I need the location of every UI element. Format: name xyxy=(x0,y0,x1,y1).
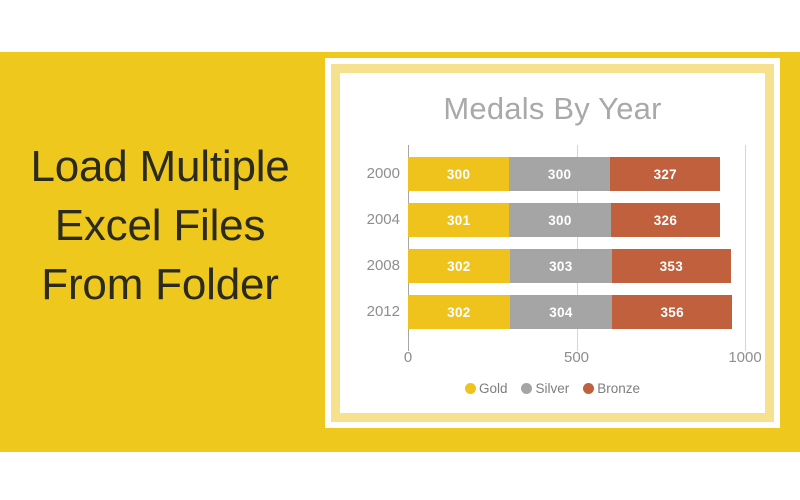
chart-bar-segment-bronze: 353 xyxy=(612,249,731,283)
legend-swatch-bronze-icon xyxy=(583,383,594,394)
chart-bar-segment-silver: 300 xyxy=(509,157,610,191)
chart-bar-segment-gold: 302 xyxy=(408,249,510,283)
chart-data-label: 302 xyxy=(447,259,470,274)
chart-data-label: 326 xyxy=(654,213,677,228)
chart-data-label: 300 xyxy=(548,167,571,182)
chart-x-axis-ticks: 05001000 xyxy=(408,349,745,371)
chart-data-label: 303 xyxy=(549,259,572,274)
chart-bar-row: 2008302303353 xyxy=(408,249,745,283)
slide-canvas: Load Multiple Excel Files From Folder Me… xyxy=(0,0,800,500)
chart-card: Medals By Year 2000300300327200430130032… xyxy=(325,58,780,428)
chart-frame-inner: Medals By Year 2000300300327200430130032… xyxy=(340,73,765,413)
chart-data-label: 300 xyxy=(548,213,571,228)
legend-label: Bronze xyxy=(597,381,640,396)
chart-data-label: 302 xyxy=(447,305,470,320)
chart-bar-row: 2004301300326 xyxy=(408,203,745,237)
chart-data-label: 353 xyxy=(660,259,683,274)
legend-swatch-silver-icon xyxy=(521,383,532,394)
chart-bar-row: 2000300300327 xyxy=(408,157,745,191)
chart-legend-item[interactable]: Silver xyxy=(521,381,569,396)
chart-bar-segment-bronze: 356 xyxy=(612,295,732,329)
legend-label: Silver xyxy=(535,381,569,396)
chart-legend: GoldSilverBronze xyxy=(340,381,765,396)
headline-line-1: Load Multiple xyxy=(0,138,320,197)
chart-bar-segment-silver: 300 xyxy=(509,203,610,237)
chart-data-label: 301 xyxy=(447,213,470,228)
chart-bar-segment-silver: 304 xyxy=(510,295,612,329)
chart-bar-segment-gold: 301 xyxy=(408,203,509,237)
chart-category-label: 2012 xyxy=(344,295,400,329)
chart-bar-segment-bronze: 327 xyxy=(610,157,720,191)
chart-frame-outer: Medals By Year 2000300300327200430130032… xyxy=(331,64,774,422)
chart-category-label: 2004 xyxy=(344,203,400,237)
chart-category-label: 2000 xyxy=(344,157,400,191)
chart-data-label: 300 xyxy=(447,167,470,182)
chart-x-tick-label: 0 xyxy=(404,349,412,366)
legend-swatch-gold-icon xyxy=(465,383,476,394)
chart-category-label: 2008 xyxy=(344,249,400,283)
headline-line-2: Excel Files xyxy=(0,197,320,256)
chart-title: Medals By Year xyxy=(340,91,765,127)
chart-data-label: 327 xyxy=(654,167,677,182)
chart-gridline xyxy=(745,145,746,351)
chart-bar-segment-gold: 302 xyxy=(408,295,510,329)
chart-bar-segment-gold: 300 xyxy=(408,157,509,191)
chart-data-label: 356 xyxy=(660,305,683,320)
chart-legend-item[interactable]: Gold xyxy=(465,381,508,396)
headline-line-3: From Folder xyxy=(0,256,320,315)
chart-bar-rows: 2000300300327200430130032620083023033532… xyxy=(408,155,745,345)
chart-bar-row: 2012302304356 xyxy=(408,295,745,329)
chart-legend-item[interactable]: Bronze xyxy=(583,381,640,396)
legend-label: Gold xyxy=(479,381,508,396)
chart-bar-segment-bronze: 326 xyxy=(611,203,721,237)
chart-bar-segment-silver: 303 xyxy=(510,249,612,283)
chart-data-label: 304 xyxy=(549,305,572,320)
chart-plot-area: 2000300300327200430130032620083023033532… xyxy=(408,155,745,345)
chart-x-tick-label: 500 xyxy=(564,349,589,366)
chart-x-tick-label: 1000 xyxy=(728,349,761,366)
headline-text: Load Multiple Excel Files From Folder xyxy=(0,138,320,315)
